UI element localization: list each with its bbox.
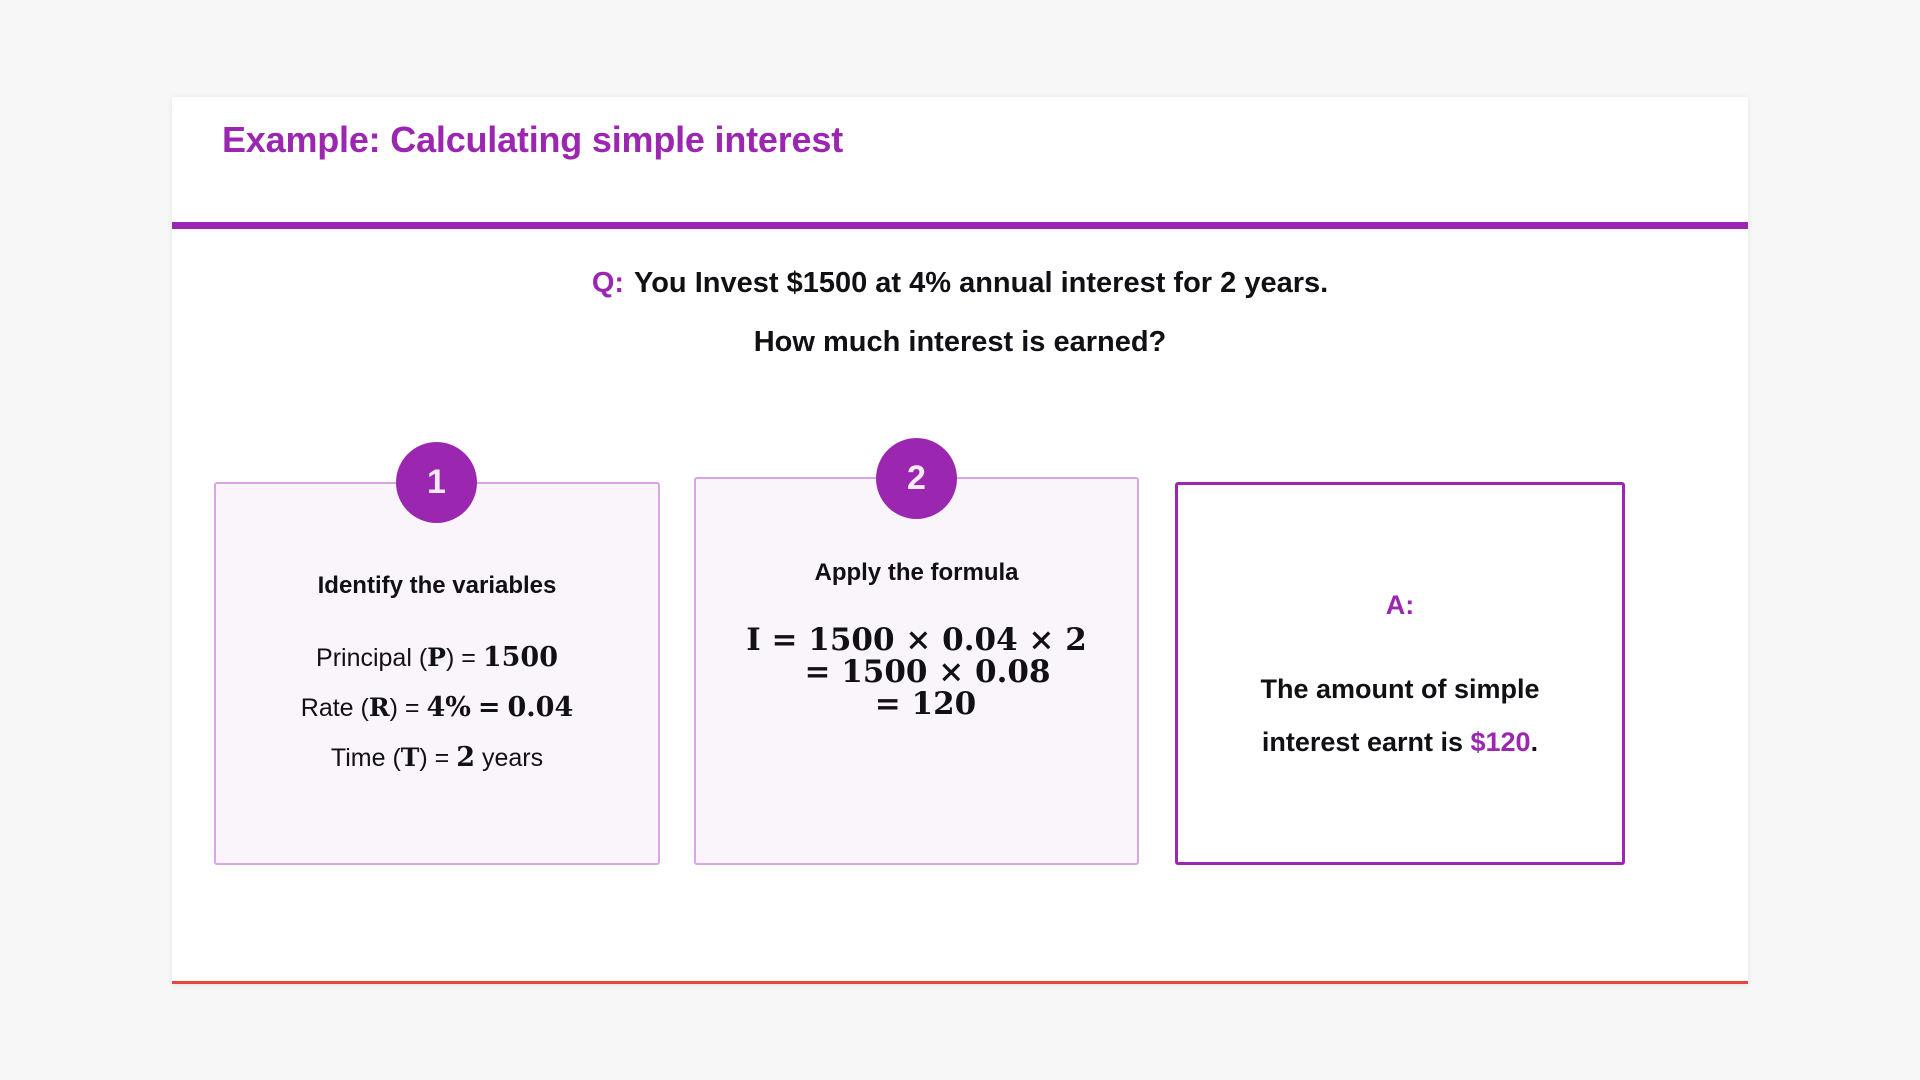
variable-time-value: 2 — [456, 742, 475, 773]
variable-rate-eq2: = — [478, 692, 501, 723]
variable-rate-value: 4% — [426, 692, 470, 723]
variable-rate-value2: 0.04 — [507, 692, 573, 723]
step-1-heading: Identify the variables — [216, 572, 658, 600]
question-text-1: You Invest $1500 at 4% annual interest f… — [634, 267, 1328, 299]
variable-principal-value: 1500 — [483, 642, 558, 673]
answer-amount: $120 — [1470, 727, 1530, 757]
question-line-2: How much interest is earned? — [172, 328, 1748, 357]
answer-card: A: The amount of simple interest earnt i… — [1175, 482, 1625, 865]
variable-principal-label: Principal — [316, 644, 412, 672]
variable-rate-label: Rate — [301, 694, 354, 722]
answer-body: A: The amount of simple interest earnt i… — [1178, 590, 1622, 768]
variable-principal: Principal (P) = 1500 — [216, 642, 658, 673]
answer-text: The amount of simple interest earnt is $… — [1202, 663, 1598, 768]
variable-principal-symbol: P — [427, 643, 446, 672]
variable-principal-eq: = — [461, 644, 476, 672]
variable-rate-symbol: R — [369, 693, 390, 722]
variable-time: Time (T) = 2 years — [216, 742, 658, 773]
variables-list: Principal (P) = 1500 Rate (R) = 4% = 0.0… — [216, 642, 658, 792]
formula-block: I = 1500 × 0.04 × 2 = 1500 × 0.08 = 120 — [696, 625, 1137, 721]
variable-time-eq: = — [435, 744, 450, 772]
step-badge-2: 2 — [876, 438, 957, 519]
question-block: Q:You Invest $1500 at 4% annual interest… — [172, 269, 1748, 357]
variable-rate: Rate (R) = 4% = 0.04 — [216, 692, 658, 723]
formula-line-2: = 1500 × 0.08 — [696, 657, 1137, 689]
answer-line-1: The amount of simple — [1260, 674, 1539, 704]
page-title: Example: Calculating simple interest — [222, 119, 843, 161]
steps-row: 1 2 Identify the variables Principal (P)… — [172, 482, 1748, 882]
step-2-heading: Apply the formula — [696, 559, 1137, 587]
question-line-1: Q:You Invest $1500 at 4% annual interest… — [172, 269, 1748, 298]
question-marker: Q: — [592, 267, 624, 299]
step-card-1: Identify the variables Principal (P) = 1… — [214, 482, 660, 865]
answer-marker: A: — [1202, 590, 1598, 621]
page-background: Example: Calculating simple interest Q:Y… — [0, 0, 1920, 1080]
slide: Example: Calculating simple interest Q:Y… — [172, 97, 1748, 984]
variable-time-symbol: T — [401, 743, 420, 772]
step-card-2: Apply the formula I = 1500 × 0.04 × 2 = … — [694, 477, 1139, 865]
title-divider — [172, 222, 1748, 229]
question-text-2: How much interest is earned? — [754, 326, 1167, 358]
variable-time-label: Time — [331, 744, 386, 772]
answer-line-2-prefix: interest earnt is — [1262, 727, 1471, 757]
variable-time-unit: years — [482, 744, 543, 772]
answer-line-2-suffix: . — [1531, 727, 1539, 757]
formula-line-1: I = 1500 × 0.04 × 2 — [696, 625, 1137, 657]
slide-bottom-rule — [172, 981, 1748, 984]
formula-line-3: = 120 — [696, 689, 1137, 721]
variable-rate-eq: = — [405, 694, 420, 722]
step-badge-1: 1 — [396, 442, 477, 523]
